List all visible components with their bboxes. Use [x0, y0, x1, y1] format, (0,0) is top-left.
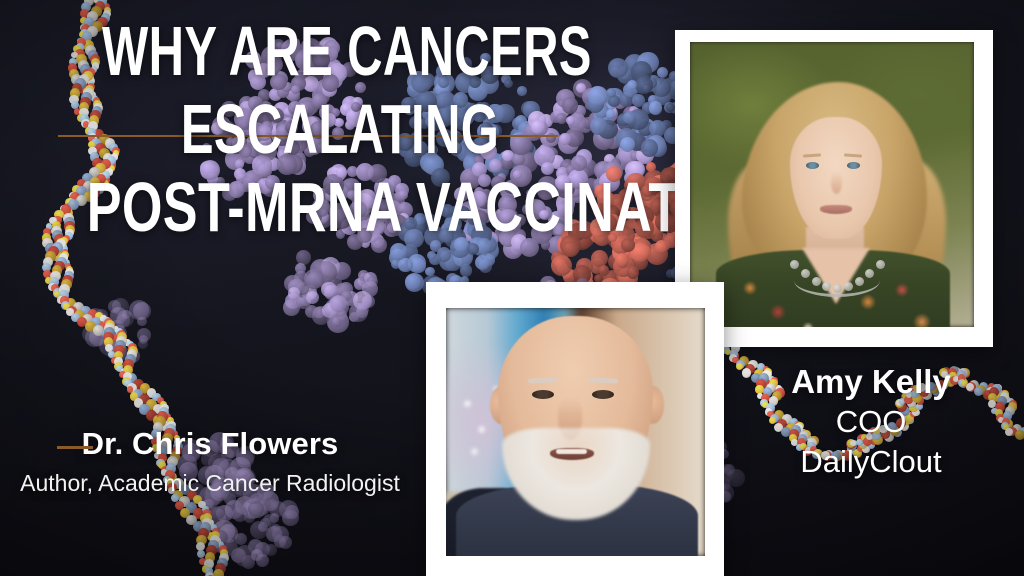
speaker-name-amy-kelly: Amy Kelly	[736, 362, 1006, 402]
mouth-amy	[820, 205, 852, 214]
title-line-3: POST-MRNA VACCINATION?	[87, 168, 594, 246]
accent-rule-name	[57, 446, 93, 449]
speaker-photo-amy-kelly	[690, 42, 974, 327]
speaker-role-amy-kelly: COO	[736, 402, 1006, 442]
speaker-org-amy-kelly: DailyClout	[736, 442, 1006, 482]
speaker-name-chris-flowers: Dr. Chris Flowers	[0, 424, 420, 464]
eye-right-amy	[847, 162, 860, 169]
necklace-amy	[794, 264, 880, 297]
title-line-2: ESCALATING	[102, 90, 578, 168]
speaker-photo-chris-flowers	[446, 308, 705, 556]
nose-amy	[831, 172, 842, 194]
title-card: WHY ARE CANCERS ESCALATING POST-MRNA VAC…	[0, 0, 1024, 576]
speaker-photo-frame-chris-flowers	[426, 282, 724, 576]
speaker-caption-amy-kelly: Amy Kelly COO DailyClout	[736, 362, 1006, 482]
speaker-role-chris-flowers: Author, Academic Cancer Radiologist	[0, 466, 420, 500]
eye-right-chris	[592, 390, 614, 399]
speaker-caption-chris-flowers: Dr. Chris Flowers Author, Academic Cance…	[0, 424, 420, 500]
page-title: WHY ARE CANCERS ESCALATING POST-MRNA VAC…	[0, 12, 680, 246]
eye-left-chris	[532, 390, 554, 399]
title-line-1: WHY ARE CANCERS	[102, 12, 578, 90]
teeth-chris	[556, 449, 587, 454]
eye-left-amy	[806, 162, 819, 169]
